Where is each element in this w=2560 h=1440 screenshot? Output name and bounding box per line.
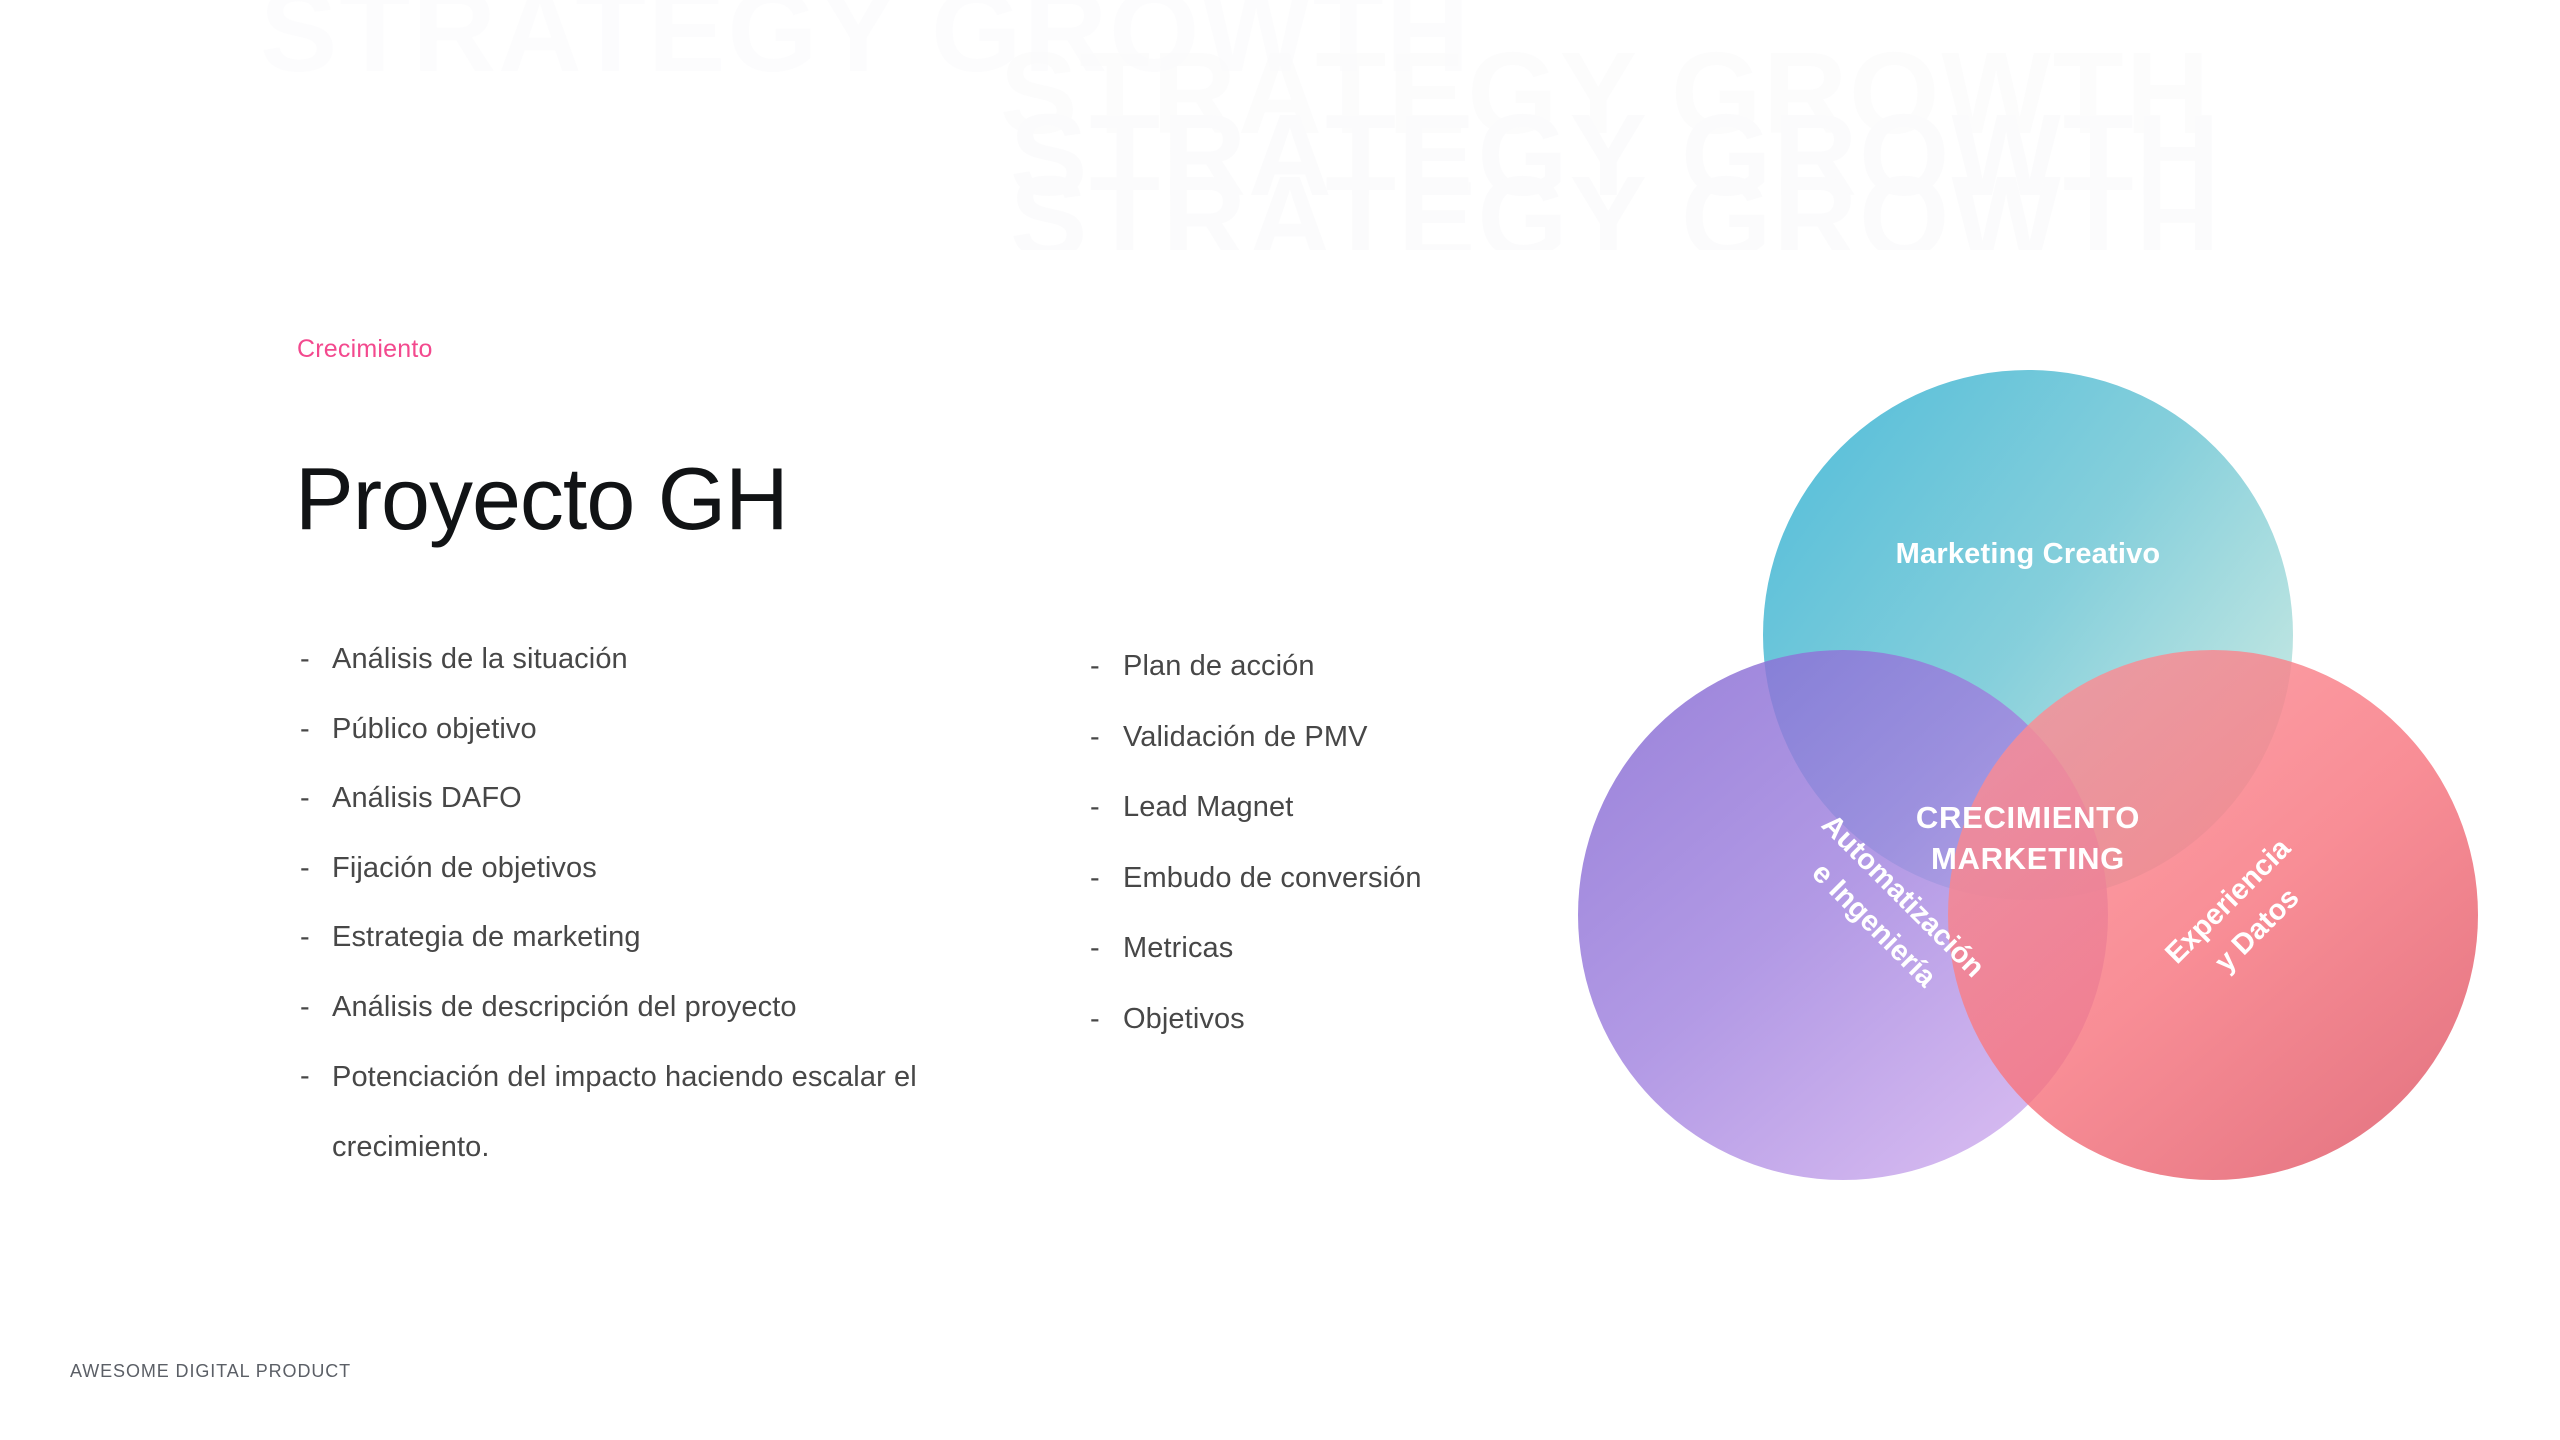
list-item-label: Lead Magnet [1123,772,1540,843]
list-item-label: Potenciación del impacto haciendo escala… [332,1042,1032,1182]
list-item: - Lead Magnet [1090,772,1540,843]
footer-label: AWESOME DIGITAL PRODUCT [70,1361,351,1382]
bullet-dash-icon: - [300,1042,332,1112]
list-item: - Objetivos [1090,984,1540,1055]
eyebrow-label: Crecimiento [297,337,433,362]
bullet-dash-icon: - [300,764,332,834]
list-item: - Análisis de la situación [300,625,1090,695]
bullet-list-left: - Análisis de la situación - Público obj… [300,625,1090,1182]
bullet-dash-icon: - [1090,913,1123,984]
bullet-column-right: - Plan de acción - Validación de PMV - L… [1090,625,1540,1054]
bullet-dash-icon: - [1090,843,1123,914]
list-item: - Metricas [1090,913,1540,984]
list-item: - Embudo de conversión [1090,843,1540,914]
bullet-dash-icon: - [300,903,332,973]
list-item-label: Fijación de objetivos [332,834,1090,904]
list-item: - Análisis DAFO [300,764,1090,834]
bullet-dash-icon: - [300,695,332,765]
page-title: Proyecto GH [295,455,788,543]
watermark-line: STRATEGY GROWTH [0,0,2560,62]
list-item-label: Embudo de conversión [1123,843,1540,914]
watermark-line: STRATEGY GROWTH [0,186,2560,248]
bullet-dash-icon: - [1090,702,1123,773]
list-item-label: Estrategia de marketing [332,903,1090,973]
list-item-label: Plan de acción [1123,631,1540,702]
list-item: - Fijación de objetivos [300,834,1090,904]
list-item-label: Objetivos [1123,984,1540,1055]
bullet-dash-icon: - [300,625,332,695]
background-watermark: STRATEGY GROWTH STRATEGY GROWTH STRATEGY… [0,0,2560,250]
watermark-line: STRATEGY GROWTH [0,62,2560,124]
bullet-dash-icon: - [1090,631,1123,702]
list-item-label: Validación de PMV [1123,702,1540,773]
list-item-label: Público objetivo [332,695,1090,765]
bullet-dash-icon: - [300,973,332,1043]
venn-diagram: Marketing Creativo CRECIMIENTO MARKETING… [1578,370,2478,1180]
list-item: - Análisis de descripción del proyecto [300,973,1090,1043]
list-item: - Plan de acción [1090,631,1540,702]
venn-label-top: Marketing Creativo [1578,538,2478,571]
list-item: - Validación de PMV [1090,702,1540,773]
list-item: - Potenciación del impacto haciendo esca… [300,1042,1090,1182]
venn-diagram-svg [1578,370,2478,1180]
watermark-line: STRATEGY GROWTH [0,124,2560,186]
list-item: - Estrategia de marketing [300,903,1090,973]
bullet-columns: - Análisis de la situación - Público obj… [300,625,1540,1182]
bullet-list-right: - Plan de acción - Validación de PMV - L… [1090,631,1540,1054]
list-item-label: Análisis de descripción del proyecto [332,973,1090,1043]
list-item: - Público objetivo [300,695,1090,765]
bullet-dash-icon: - [300,834,332,904]
slide-canvas: STRATEGY GROWTH STRATEGY GROWTH STRATEGY… [0,0,2560,1440]
bullet-dash-icon: - [1090,772,1123,843]
list-item-label: Metricas [1123,913,1540,984]
bullet-column-left: - Análisis de la situación - Público obj… [300,625,1090,1182]
list-item-label: Análisis DAFO [332,764,1090,834]
bullet-dash-icon: - [1090,984,1123,1055]
list-item-label: Análisis de la situación [332,625,1090,695]
